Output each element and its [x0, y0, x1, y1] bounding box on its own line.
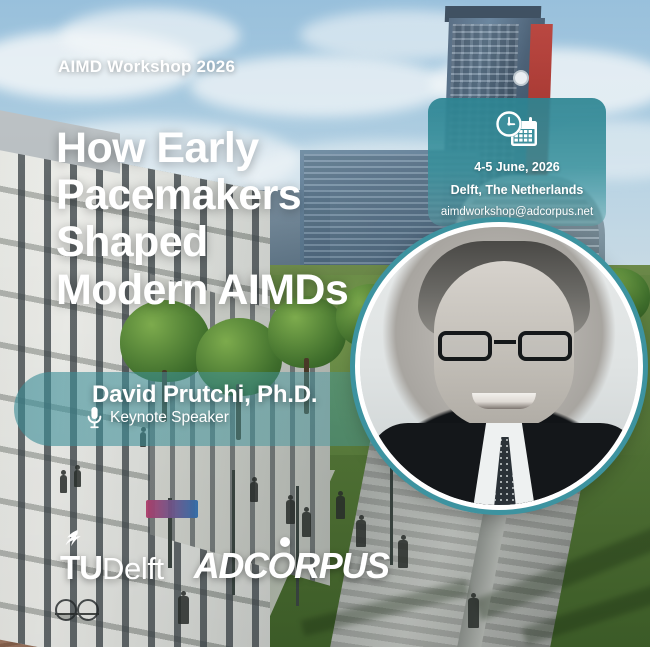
- portrait-smile: [472, 393, 536, 409]
- dot-icon: [280, 537, 290, 547]
- flame-icon: [63, 530, 85, 550]
- headline-line-4: Modern AIMDs: [56, 267, 386, 314]
- portrait-glasses: [438, 331, 572, 361]
- headline-line-3: Shaped: [56, 219, 386, 266]
- headline-line-1: How Early: [56, 125, 386, 172]
- speaker-role-row: Keynote Speaker: [86, 406, 229, 430]
- contact-email[interactable]: aimdworkshop@adcorpus.net: [428, 206, 606, 218]
- tu-delft-wordmark: Delft: [102, 551, 164, 587]
- microphone-icon: [86, 406, 103, 430]
- clock-calendar-icon: [494, 110, 540, 150]
- speaker-name: David Prutchi, Ph.D.: [92, 381, 317, 409]
- headline-line-2: Pacemakers: [56, 172, 386, 219]
- adcorpus-wordmark: ADCORPUS: [194, 545, 389, 587]
- tu-delft-mark: TU: [60, 549, 102, 587]
- event-date: 4-5 June, 2026: [428, 160, 606, 174]
- portrait-photo: [360, 227, 638, 505]
- sponsor-logos: TU Delft ADCORPUS: [60, 545, 389, 587]
- speaker-portrait: [355, 222, 643, 510]
- speaker-role-label: Keynote Speaker: [110, 409, 229, 427]
- tu-delft-logo[interactable]: TU Delft: [60, 549, 164, 587]
- event-label: AIMD Workshop 2026: [58, 57, 235, 77]
- adcorpus-logo[interactable]: ADCORPUS: [194, 545, 389, 587]
- event-promo-poster: AIMD Workshop 2026 How Early Pacemakers …: [0, 0, 650, 647]
- event-info-card: 4-5 June, 2026 Delft, The Netherlands ai…: [428, 98, 606, 226]
- page-title: How Early Pacemakers Shaped Modern AIMDs: [56, 125, 386, 314]
- event-location: Delft, The Netherlands: [428, 183, 606, 197]
